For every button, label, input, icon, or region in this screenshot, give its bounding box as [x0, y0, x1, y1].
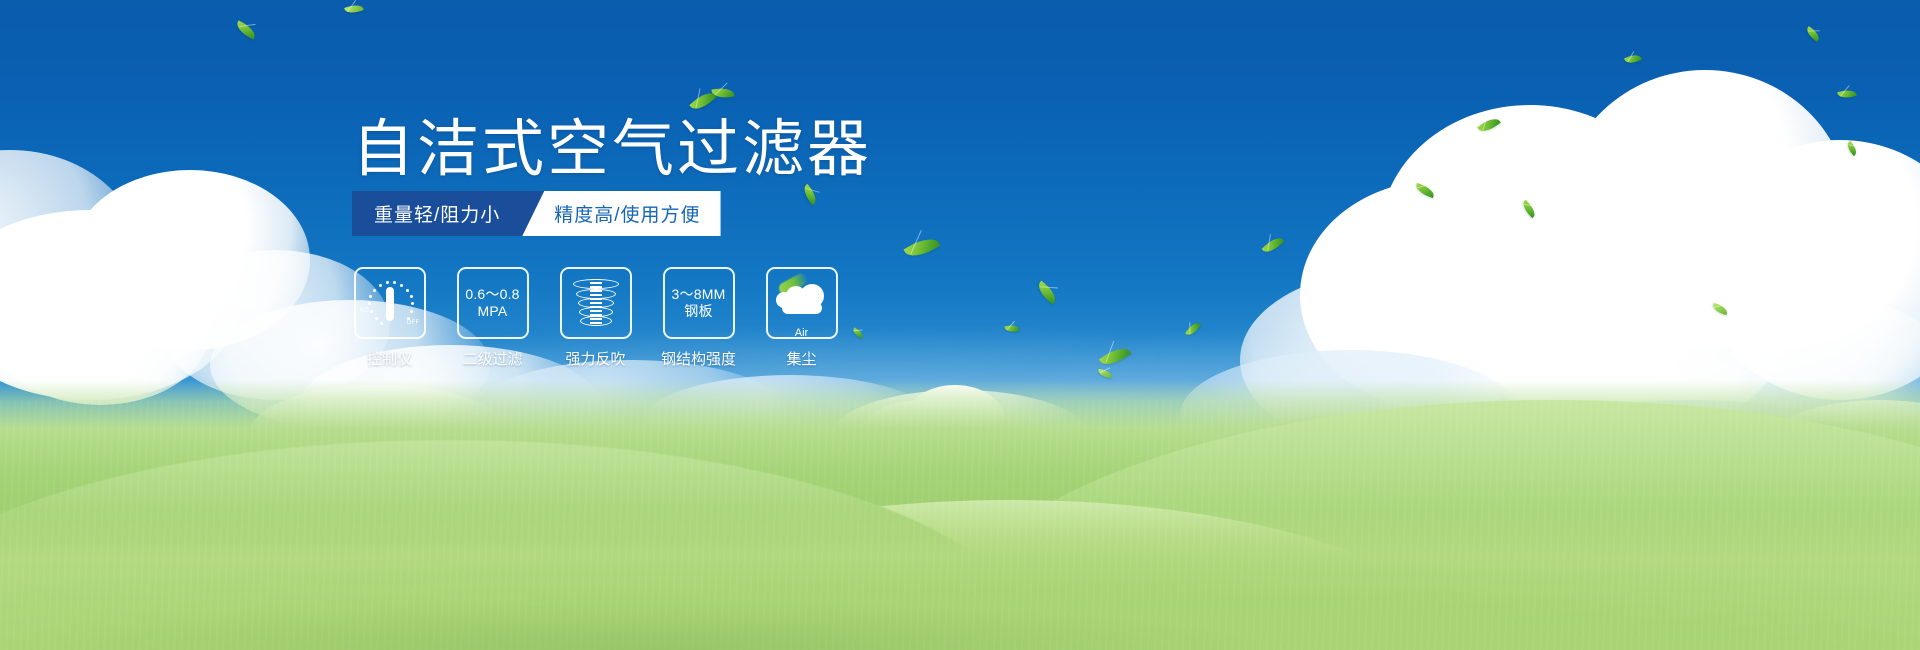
feature-icon-box-3 [560, 267, 632, 339]
air-cloud-icon: Air [776, 282, 828, 324]
gauge-needle-icon [386, 287, 394, 321]
air-label: Air [776, 327, 828, 339]
feature-icon-list: NO OFF 控制仪 0.6～0.8 MPA 二级过滤 [352, 267, 839, 369]
feature-icon-box-2: 0.6～0.8 MPA [457, 267, 529, 339]
feature-label-1: 控制仪 [367, 348, 412, 369]
feature-icon-box-4: 3～8MM 钢板 [663, 267, 735, 339]
gauge-label-off: OFF [407, 320, 420, 326]
feature-item-steel-strength[interactable]: 3～8MM 钢板 钢结构强度 [661, 267, 736, 369]
backblow-filter-icon [572, 278, 620, 328]
feature-label-3: 强力反吹 [565, 348, 625, 369]
feature-item-control-instrument[interactable]: NO OFF 控制仪 [352, 267, 427, 369]
feature-icon-box-1: NO OFF [354, 267, 426, 339]
feature-item-two-stage-filter[interactable]: 0.6～0.8 MPA 二级过滤 [455, 267, 530, 369]
subtitle-tabs: 重量轻/阻力小 精度高/使用方便 [352, 191, 721, 236]
feature-label-4: 钢结构强度 [661, 348, 736, 369]
pressure-unit-text: MPA [478, 303, 508, 320]
feature-item-dust-collection[interactable]: Air 集尘 [764, 267, 839, 369]
steel-plate-icon: 3～8MM [672, 286, 726, 303]
feature-label-2: 二级过滤 [462, 348, 522, 369]
feature-label-5: 集尘 [786, 348, 816, 369]
pressure-value-icon: 0.6～0.8 [465, 286, 519, 303]
steel-plate-text: 钢板 [684, 303, 712, 320]
feature-icon-box-5: Air [766, 267, 838, 339]
product-hero-banner: 自洁式空气过滤器 重量轻/阻力小 精度高/使用方便 [0, 0, 1920, 650]
subtitle-tab-2[interactable]: 精度高/使用方便 [522, 191, 720, 236]
gauge-icon: NO OFF [362, 278, 418, 328]
gauge-label-no: NO [360, 308, 370, 314]
subtitle-tab-1[interactable]: 重量轻/阻力小 [352, 191, 544, 236]
feature-item-strong-backblow[interactable]: 强力反吹 [558, 267, 633, 369]
page-title: 自洁式空气过滤器 [352, 114, 872, 186]
